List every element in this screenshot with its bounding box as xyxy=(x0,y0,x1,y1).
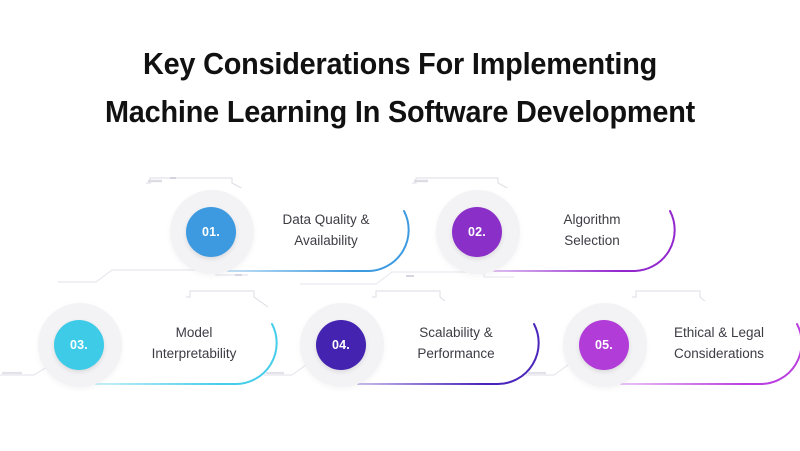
card-label-line-1: Algorithm xyxy=(563,209,620,230)
card-number-badge: 04. xyxy=(316,320,366,370)
card-number-badge: 05. xyxy=(579,320,629,370)
infographic-canvas: Key Considerations For Implementing Mach… xyxy=(0,0,800,451)
card-label-line-2: Interpretability xyxy=(152,343,237,364)
card-number-text: 04. xyxy=(332,338,350,352)
card-label-line-2: Selection xyxy=(564,230,620,251)
card-number-badge: 02. xyxy=(452,207,502,257)
card-label: Scalability & Performance xyxy=(372,301,540,385)
consideration-card-5[interactable]: 05. Ethical & Legal Considerations xyxy=(563,301,800,385)
page-title: Key Considerations For Implementing Mach… xyxy=(0,40,800,136)
consideration-card-3[interactable]: 03. Model Interpretability xyxy=(38,301,278,385)
card-number-badge: 03. xyxy=(54,320,104,370)
card-label-line-1: Ethical & Legal xyxy=(674,322,764,343)
page-title-line-1: Key Considerations For Implementing xyxy=(28,40,772,88)
card-label-line-1: Model xyxy=(176,322,213,343)
card-number-badge: 01. xyxy=(186,207,236,257)
card-label-line-1: Scalability & xyxy=(419,322,493,343)
consideration-card-4[interactable]: 04. Scalability & Performance xyxy=(300,301,540,385)
card-number-text: 02. xyxy=(468,225,486,239)
card-label-line-2: Availability xyxy=(294,230,358,251)
card-label-line-2: Performance xyxy=(417,343,494,364)
consideration-card-2[interactable]: 02. Algorithm Selection xyxy=(436,188,676,272)
card-number-text: 05. xyxy=(595,338,613,352)
card-label: Algorithm Selection xyxy=(508,188,676,272)
page-title-line-2: Machine Learning In Software Development xyxy=(28,88,772,136)
card-label-line-1: Data Quality & xyxy=(282,209,369,230)
card-label-line-2: Considerations xyxy=(674,343,764,364)
consideration-card-1[interactable]: 01. Data Quality & Availability xyxy=(170,188,410,272)
card-number-text: 03. xyxy=(70,338,88,352)
card-number-text: 01. xyxy=(202,225,220,239)
card-label: Data Quality & Availability xyxy=(242,188,410,272)
card-label: Model Interpretability xyxy=(110,301,278,385)
card-label: Ethical & Legal Considerations xyxy=(635,301,800,385)
